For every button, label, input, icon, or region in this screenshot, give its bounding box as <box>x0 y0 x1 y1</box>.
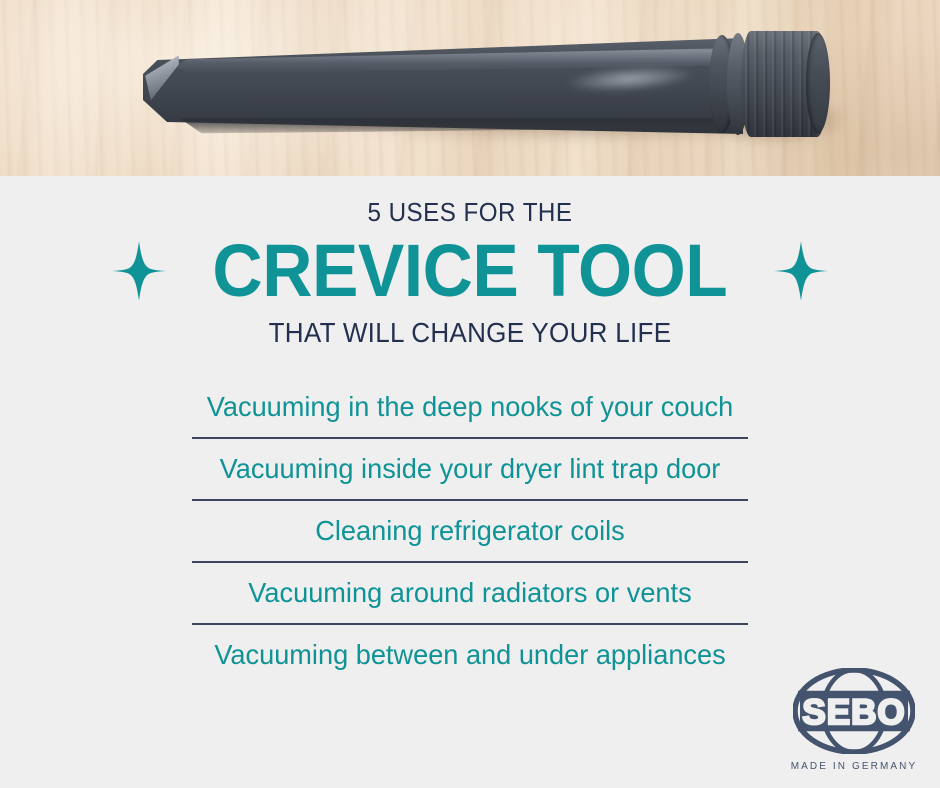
list-item: Vacuuming in the deep nooks of your couc… <box>200 377 739 437</box>
sebo-globe-icon: SEBO SEBO <box>793 668 915 754</box>
logo-tagline: MADE IN GERMANY <box>786 761 922 772</box>
hero-photo <box>0 0 940 176</box>
svg-text:SEBO: SEBO <box>802 693 905 732</box>
infographic-root: 5 USES FOR THE CREVICE TOOL THAT WILL CH… <box>0 0 940 788</box>
page-title: CREVICE TOOL <box>213 234 728 308</box>
eyebrow-text: 5 USES FOR THE <box>33 176 907 225</box>
uses-list: Vacuuming in the deep nooks of your couc… <box>192 377 748 685</box>
sparkle-icon <box>770 240 832 302</box>
sebo-logo: SEBO SEBO MADE IN GERMANY <box>786 668 922 772</box>
list-item: Vacuuming between and under appliances <box>200 625 739 685</box>
list-item: Vacuuming around radiators or vents <box>200 563 739 623</box>
list-item: Vacuuming inside your dryer lint trap do… <box>200 439 739 499</box>
sparkle-icon <box>108 240 170 302</box>
list-item: Cleaning refrigerator coils <box>200 501 739 561</box>
content-panel: 5 USES FOR THE CREVICE TOOL THAT WILL CH… <box>0 176 940 788</box>
crevice-tool-cap-end <box>806 33 830 133</box>
subtitle-text: THAT WILL CHANGE YOUR LIFE <box>33 319 907 347</box>
title-row: CREVICE TOOL <box>0 233 940 309</box>
